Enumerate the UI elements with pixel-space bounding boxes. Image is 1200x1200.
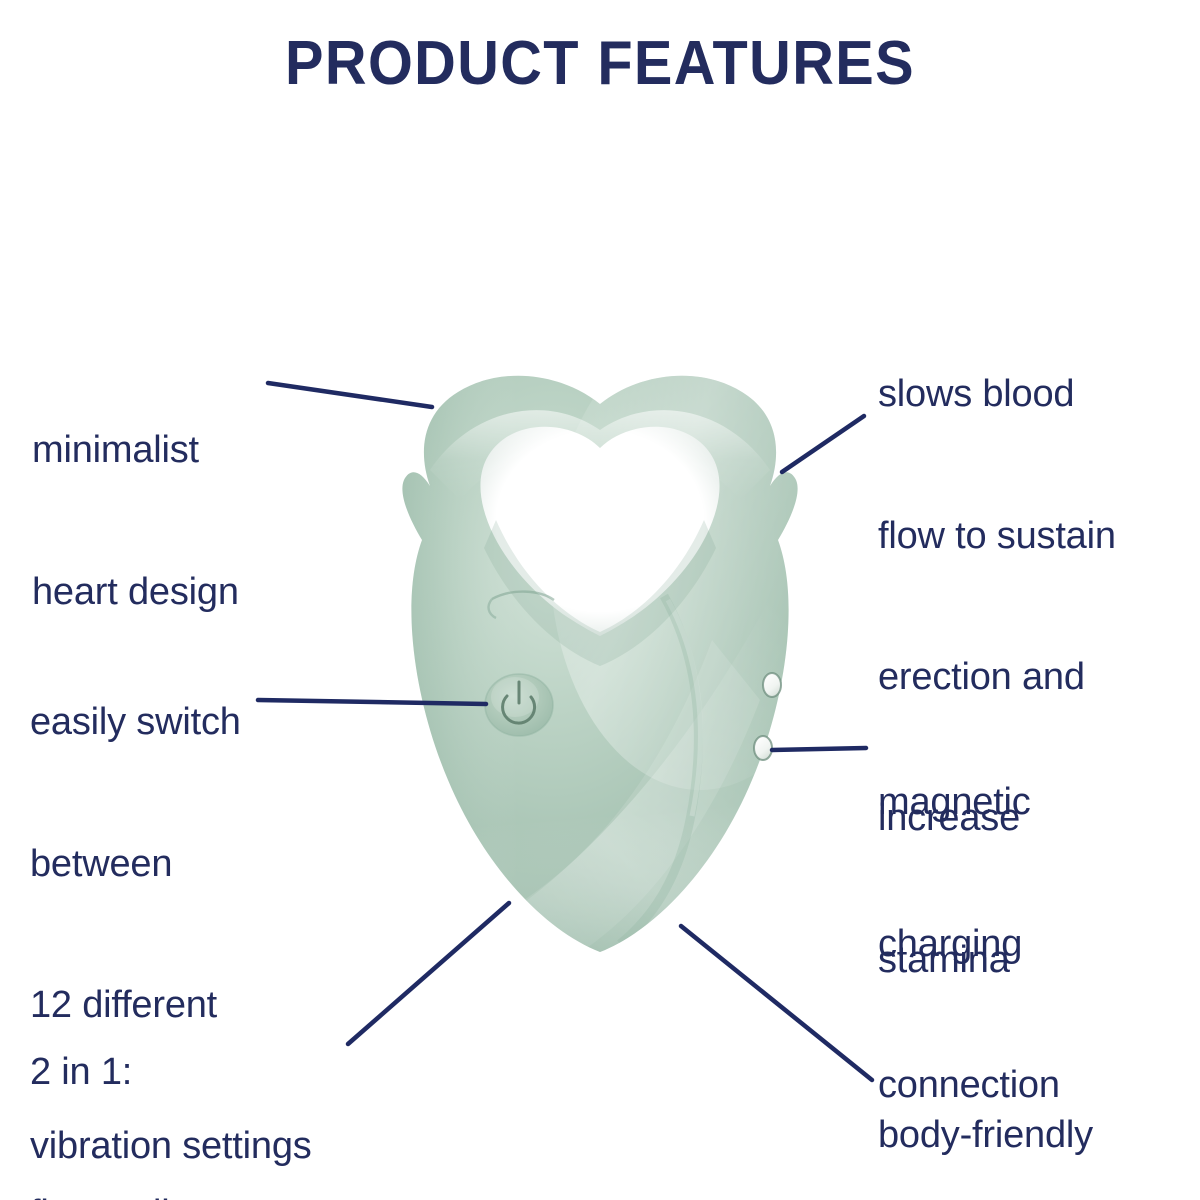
callout-line: flow to sustain (878, 513, 1116, 560)
callout-line: finger vibrator (30, 1191, 259, 1200)
charging-pin-lower (754, 736, 772, 760)
callout-body-friendly-silicone: body-friendly silicone (878, 1018, 1093, 1200)
product-features-infographic: PRODUCT FEATURES (0, 0, 1200, 1200)
callout-two-in-one: 2 in 1: finger vibrator and cock ring (30, 955, 259, 1200)
charging-pin-upper (763, 673, 781, 697)
callout-line: minimalist (32, 427, 239, 474)
callout-line: body-friendly (878, 1112, 1093, 1159)
callout-line: between (30, 841, 312, 888)
product-body (355, 330, 855, 1000)
callout-line: slows blood (878, 371, 1116, 418)
callout-line: charging (878, 921, 1060, 968)
power-button[interactable] (485, 674, 553, 736)
callout-line: 2 in 1: (30, 1049, 259, 1096)
callout-line: magnetic (878, 779, 1060, 826)
callout-line: easily switch (30, 699, 312, 746)
